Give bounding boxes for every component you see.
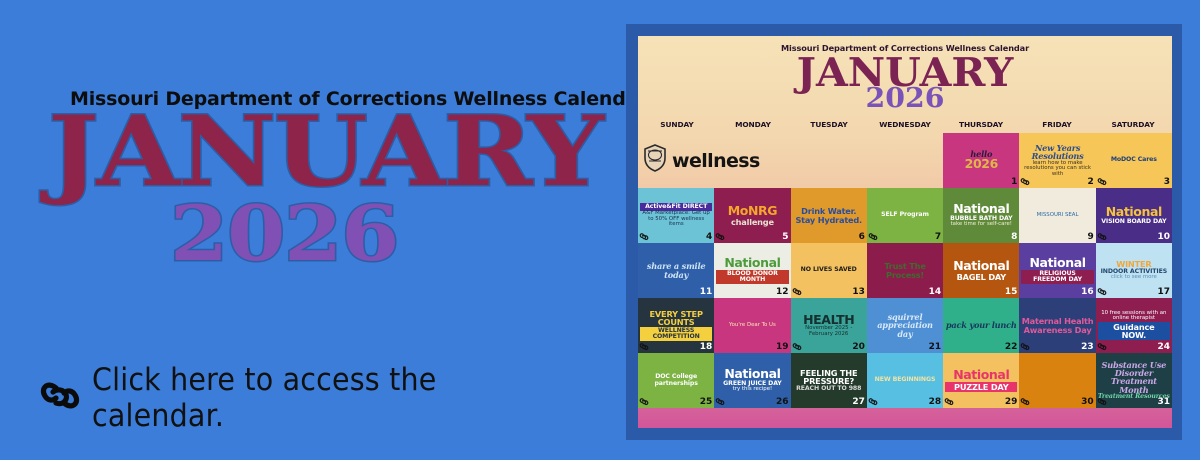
day-content: pack your lunch bbox=[943, 321, 1019, 329]
calendar-day-4[interactable]: Active&Fit DIRECTA&F Marketplace: Get up… bbox=[638, 188, 714, 243]
link-icon bbox=[1097, 287, 1107, 297]
day-content: 10 free sessions with an online therapis… bbox=[1096, 311, 1172, 341]
day-text-line: Maternal Health Awareness Day bbox=[1021, 317, 1093, 334]
link-icon bbox=[868, 232, 878, 242]
day-text-line: pack your lunch bbox=[945, 321, 1017, 329]
day-number: 13 bbox=[852, 287, 865, 298]
calendar-day-27[interactable]: FEELING THE PRESSURE?REACH OUT TO 98827 bbox=[791, 353, 867, 408]
weekday-wednesday: WEDNESDAY bbox=[867, 120, 943, 129]
calendar-day-8[interactable]: NationalBUBBLE BATH DAYtake time for sel… bbox=[943, 188, 1019, 243]
day-content: NationalBAGEL DAY bbox=[943, 260, 1019, 281]
day-text-line: squirrel appreciation day bbox=[869, 313, 941, 338]
day-content: Trust The Process! bbox=[867, 262, 943, 279]
link-icon bbox=[1097, 397, 1107, 407]
day-text-line: try this recipe! bbox=[716, 387, 788, 393]
calendar-day-9[interactable]: MISSOURI SEAL9 bbox=[1019, 188, 1095, 243]
promo-panel: Missouri Department of Corrections Welln… bbox=[0, 0, 620, 460]
calendar-day-6[interactable]: Drink Water.Stay Hydrated.6 bbox=[791, 188, 867, 243]
promo-year-title: 2026 bbox=[170, 196, 676, 272]
day-text-line: National bbox=[945, 369, 1017, 382]
day-number: 28 bbox=[929, 397, 942, 408]
day-text-line: take time for self-care! bbox=[945, 222, 1017, 228]
day-text-line: MoNRG bbox=[716, 205, 788, 218]
calendar-day-15[interactable]: NationalBAGEL DAY15 bbox=[943, 243, 1019, 298]
calendar-day-1[interactable]: hello20261 bbox=[943, 133, 1019, 188]
calendar-day-17[interactable]: WINTERINDOOR ACTIVITIESclick to see more… bbox=[1096, 243, 1172, 298]
day-text-line: learn how to make resolutions you can st… bbox=[1021, 161, 1093, 178]
link-icon bbox=[639, 232, 649, 242]
day-text-line: REACH OUT TO 988 bbox=[793, 386, 865, 392]
day-content: EVERY STEP COUNTSWELLNESS COMPETITION bbox=[638, 310, 714, 341]
day-content: squirrel appreciation day bbox=[867, 313, 943, 338]
day-content: NationalVISION BOARD DAY bbox=[1096, 206, 1172, 225]
day-text-line: Guidance NOW. bbox=[1098, 322, 1170, 341]
day-number: 12 bbox=[776, 287, 789, 298]
day-number: 7 bbox=[935, 232, 941, 243]
calendar-grid[interactable]: wellness hello20261New YearsResolutionsl… bbox=[638, 133, 1172, 408]
calendar-card[interactable]: Missouri Department of Corrections Welln… bbox=[626, 24, 1182, 440]
day-text-line: Substance Use Disorder bbox=[1098, 361, 1170, 378]
day-content: New YearsResolutionslearn how to make re… bbox=[1019, 144, 1095, 177]
calendar-day-10[interactable]: NationalVISION BOARD DAY10 bbox=[1096, 188, 1172, 243]
weekday-tuesday: TUESDAY bbox=[791, 120, 867, 129]
day-content: MISSOURI SEAL bbox=[1019, 213, 1095, 219]
day-text-line: 10 free sessions with an online therapis… bbox=[1098, 311, 1170, 322]
day-content: Substance Use DisorderTreatment MonthTre… bbox=[1096, 361, 1172, 401]
day-text-line: MoDOC Cares bbox=[1098, 157, 1170, 163]
link-icon bbox=[1020, 177, 1030, 187]
calendar-day-20[interactable]: HEALTHNovember 2025 - February 202620 bbox=[791, 298, 867, 353]
day-content: MoNRGchallenge bbox=[714, 205, 790, 226]
day-text-line: FEELING THE PRESSURE? bbox=[793, 369, 865, 386]
calendar-day-18[interactable]: EVERY STEP COUNTSWELLNESS COMPETITION18 bbox=[638, 298, 714, 353]
calendar-sheet: Missouri Department of Corrections Welln… bbox=[638, 36, 1172, 428]
day-number: 8 bbox=[1011, 232, 1017, 243]
day-text-line: VISION BOARD DAY bbox=[1098, 219, 1170, 225]
calendar-year-title: 2026 bbox=[638, 87, 1172, 111]
day-content: NationalRELIGIOUS FREEDOM DAY bbox=[1019, 257, 1095, 284]
day-content: Active&Fit DIRECTA&F Marketplace: Get up… bbox=[638, 203, 714, 228]
day-number: 29 bbox=[1005, 397, 1018, 408]
day-text-line: MISSOURI SEAL bbox=[1021, 213, 1093, 219]
day-text-line: Treatment Month bbox=[1098, 377, 1170, 394]
day-text-line: DOC College partnerships bbox=[640, 374, 712, 387]
calendar-access-label: Click here to access the calendar. bbox=[92, 362, 578, 434]
day-text-line: 2026 bbox=[945, 158, 1017, 171]
day-content: NationalBUBBLE BATH DAYtake time for sel… bbox=[943, 203, 1019, 228]
day-number: 21 bbox=[929, 342, 942, 353]
day-number: 26 bbox=[776, 397, 789, 408]
day-number: 22 bbox=[1005, 342, 1018, 353]
day-number: 27 bbox=[852, 397, 865, 408]
day-number: 14 bbox=[929, 287, 942, 298]
day-text-line: BLOOD DONOR MONTH bbox=[716, 270, 788, 285]
day-text-line: SUD TREATMENT bbox=[1021, 378, 1093, 384]
day-content: WINTERINDOOR ACTIVITIESclick to see more bbox=[1096, 260, 1172, 280]
link-icon bbox=[944, 397, 954, 407]
mo-doc-shield-icon bbox=[643, 144, 667, 177]
link-icon bbox=[1020, 397, 1030, 407]
weekday-sunday: SUNDAY bbox=[639, 120, 715, 129]
day-number: 9 bbox=[1087, 232, 1093, 243]
link-icon bbox=[792, 287, 802, 297]
day-content: SELF Program bbox=[867, 212, 943, 218]
link-icon bbox=[639, 397, 649, 407]
day-content: HEALTHNovember 2025 - February 2026 bbox=[791, 314, 867, 338]
day-number: 11 bbox=[700, 287, 713, 298]
calendar-day-24[interactable]: 10 free sessions with an online therapis… bbox=[1096, 298, 1172, 353]
day-number: 5 bbox=[782, 232, 788, 243]
weekday-friday: FRIDAY bbox=[1019, 120, 1095, 129]
day-content: share a smile today bbox=[638, 262, 714, 279]
calendar-day-22[interactable]: pack your lunch22 bbox=[943, 298, 1019, 353]
calendar-day-3[interactable]: MoDOC Cares3 bbox=[1096, 133, 1172, 188]
calendar-day-2[interactable]: New YearsResolutionslearn how to make re… bbox=[1019, 133, 1095, 188]
day-number: 24 bbox=[1157, 342, 1170, 353]
calendar-day-26[interactable]: NationalGREEN JUICE DAYtry this recipe!2… bbox=[714, 353, 790, 408]
calendar-day-14[interactable]: Trust The Process!14 bbox=[867, 243, 943, 298]
weekday-header-row: SUNDAYMONDAYTUESDAYWEDNESDAYTHURSDAYFRID… bbox=[638, 120, 1172, 129]
day-number: 15 bbox=[1005, 287, 1018, 298]
day-content: hello2026 bbox=[943, 150, 1019, 171]
day-number: 23 bbox=[1081, 342, 1094, 353]
day-text-line: challenge bbox=[716, 218, 788, 226]
day-number: 20 bbox=[852, 342, 865, 353]
link-icon bbox=[1097, 177, 1107, 187]
calendar-day-12[interactable]: NationalBLOOD DONOR MONTH12 bbox=[714, 243, 790, 298]
calendar-day-13[interactable]: NO LIVES SAVED13 bbox=[791, 243, 867, 298]
calendar-day-21[interactable]: squirrel appreciation day21 bbox=[867, 298, 943, 353]
calendar-day-30[interactable]: SUD TREATMENT30 bbox=[1019, 353, 1095, 408]
calendar-day-16[interactable]: NationalRELIGIOUS FREEDOM DAY16 bbox=[1019, 243, 1095, 298]
day-number: 10 bbox=[1157, 232, 1170, 243]
day-content: MoDOC Cares bbox=[1096, 157, 1172, 163]
day-number: 3 bbox=[1164, 177, 1170, 188]
day-content: NationalPUZZLE DAY bbox=[943, 369, 1019, 392]
day-content: NationalBLOOD DONOR MONTH bbox=[714, 257, 790, 284]
calendar-access-link[interactable]: Click here to access the calendar. bbox=[38, 362, 620, 434]
day-number: 6 bbox=[859, 232, 865, 243]
calendar-day-11[interactable]: share a smile today11 bbox=[638, 243, 714, 298]
day-text-line: A&F Marketplace: Get up to 50% OFF welln… bbox=[640, 211, 712, 228]
day-content: You're Dear To Us bbox=[714, 323, 790, 329]
day-number: 2 bbox=[1087, 177, 1093, 188]
day-text-line: National bbox=[716, 257, 788, 270]
day-text-line: National bbox=[945, 260, 1017, 273]
day-number: 31 bbox=[1157, 397, 1170, 408]
day-content: NationalGREEN JUICE DAYtry this recipe! bbox=[714, 368, 790, 393]
link-icon bbox=[868, 397, 878, 407]
link-icon bbox=[1097, 232, 1107, 242]
day-content: DOC College partnerships bbox=[638, 374, 714, 387]
day-text-line: SELF Program bbox=[869, 212, 941, 218]
day-text-line: National bbox=[1098, 206, 1170, 219]
day-number: 1 bbox=[1011, 177, 1017, 188]
day-text-line: BAGEL DAY bbox=[945, 273, 1017, 281]
day-text-line: RELIGIOUS FREEDOM DAY bbox=[1021, 270, 1093, 285]
day-content: NO LIVES SAVED bbox=[791, 267, 867, 273]
calendar-day-7[interactable]: SELF Program7 bbox=[867, 188, 943, 243]
link-icon bbox=[715, 397, 725, 407]
day-text-line: NEW BEGINNINGS bbox=[869, 377, 941, 383]
link-icon bbox=[1020, 342, 1030, 352]
calendar-day-25[interactable]: DOC College partnerships25 bbox=[638, 353, 714, 408]
day-number: 25 bbox=[700, 397, 713, 408]
calendar-day-29[interactable]: NationalPUZZLE DAY29 bbox=[943, 353, 1019, 408]
weekday-monday: MONDAY bbox=[715, 120, 791, 129]
weekday-thursday: THURSDAY bbox=[943, 120, 1019, 129]
day-content: Drink Water.Stay Hydrated. bbox=[791, 207, 867, 224]
day-text-line: National bbox=[1021, 257, 1093, 270]
day-number: 30 bbox=[1081, 397, 1094, 408]
day-number: 4 bbox=[706, 232, 712, 243]
day-content: NEW BEGINNINGS bbox=[867, 377, 943, 383]
weekday-saturday: SATURDAY bbox=[1095, 120, 1171, 129]
day-text-line: share a smile today bbox=[640, 262, 712, 279]
link-icon bbox=[792, 342, 802, 352]
day-text-line: You're Dear To Us bbox=[716, 323, 788, 329]
day-content: Maternal Health Awareness Day bbox=[1019, 317, 1095, 334]
day-number: 17 bbox=[1157, 287, 1170, 298]
wellness-logo-label: wellness bbox=[672, 150, 760, 172]
day-text-line: WELLNESS COMPETITION bbox=[640, 327, 712, 342]
day-number: 18 bbox=[700, 342, 713, 353]
link-icon bbox=[38, 379, 82, 418]
calendar-day-31[interactable]: Substance Use DisorderTreatment MonthTre… bbox=[1096, 353, 1172, 408]
day-text-line: EVERY STEP COUNTS bbox=[640, 310, 712, 327]
link-icon bbox=[715, 232, 725, 242]
promo-month-title: JANUARY bbox=[48, 104, 675, 200]
day-text-line: Stay Hydrated. bbox=[793, 216, 865, 224]
day-content: SUD TREATMENT bbox=[1019, 378, 1095, 384]
day-number: 19 bbox=[776, 342, 789, 353]
link-icon bbox=[639, 342, 649, 352]
day-text-line: November 2025 - February 2026 bbox=[793, 326, 865, 337]
day-text-line: Trust The Process! bbox=[869, 262, 941, 279]
day-number: 16 bbox=[1081, 287, 1094, 298]
calendar-day-28[interactable]: NEW BEGINNINGS28 bbox=[867, 353, 943, 408]
calendar-day-19[interactable]: You're Dear To Us19 bbox=[714, 298, 790, 353]
wellness-logo-block: wellness bbox=[638, 133, 943, 188]
calendar-day-23[interactable]: Maternal Health Awareness Day23 bbox=[1019, 298, 1095, 353]
day-text-line: click to see more bbox=[1098, 275, 1170, 281]
day-text-line: NO LIVES SAVED bbox=[793, 267, 865, 273]
day-content: FEELING THE PRESSURE?REACH OUT TO 988 bbox=[791, 369, 867, 392]
calendar-day-5[interactable]: MoNRGchallenge5 bbox=[714, 188, 790, 243]
day-text-line: PUZZLE DAY bbox=[945, 382, 1017, 392]
link-icon bbox=[1097, 342, 1107, 352]
